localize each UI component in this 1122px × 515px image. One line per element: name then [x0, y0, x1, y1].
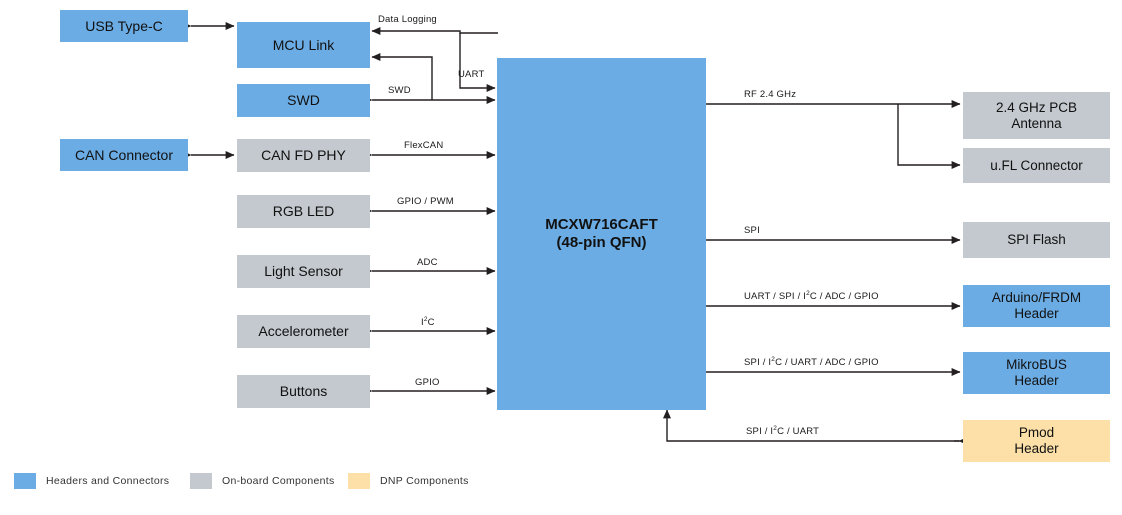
block-label: RGB LED — [273, 203, 334, 220]
legend-swatch-onboard — [190, 473, 212, 489]
legend-item-headers-connectors: Headers and Connectors — [14, 473, 169, 489]
block-mikrobus-header[interactable]: MikroBUS Header — [963, 352, 1110, 394]
block-label-line1: u.FL Connector — [990, 158, 1083, 174]
block-usb-type-c[interactable]: USB Type-C — [60, 10, 188, 42]
block-label: USB Type-C — [85, 18, 163, 35]
bus-label-pmod: SPI / I2C / UART — [746, 426, 819, 437]
bus-label-gpio: GPIO — [415, 377, 440, 388]
block-mcu-mcxw716caft[interactable]: MCXW716CAFT (48-pin QFN) — [497, 58, 706, 410]
block-label: CAN FD PHY — [261, 147, 346, 164]
pmod-bus-a: SPI / I — [746, 426, 773, 437]
legend-label-onboard: On-board Components — [222, 475, 335, 487]
wire-rf-ufl-branch — [898, 104, 960, 165]
block-label: Light Sensor — [264, 263, 343, 280]
legend-item-dnp-components: DNP Components — [348, 473, 469, 489]
block-light-sensor[interactable]: Light Sensor — [237, 255, 370, 288]
block-label-line2: Header — [1014, 373, 1058, 389]
legend-swatch-dnp — [348, 473, 370, 489]
arduino-bus-b: C / ADC / GPIO — [810, 291, 879, 302]
block-accelerometer[interactable]: Accelerometer — [237, 315, 370, 348]
block-label-line2: Header — [1014, 441, 1058, 457]
block-label: CAN Connector — [75, 147, 173, 164]
block-label: Buttons — [280, 383, 327, 400]
block-can-fd-phy[interactable]: CAN FD PHY — [237, 139, 370, 172]
block-label-line2: Header — [1014, 306, 1058, 322]
block-label: SWD — [287, 92, 320, 109]
block-label-line1: MikroBUS — [1006, 357, 1067, 373]
block-buttons[interactable]: Buttons — [237, 375, 370, 408]
block-label-line1: Pmod — [1019, 425, 1054, 441]
legend-label-headers: Headers and Connectors — [46, 475, 169, 487]
bus-label-uart: UART — [458, 69, 485, 80]
legend-label-dnp: DNP Components — [380, 475, 469, 487]
block-spi-flash[interactable]: SPI Flash — [963, 222, 1110, 258]
block-swd[interactable]: SWD — [237, 84, 370, 117]
block-diagram-canvas: USB Type-C CAN Connector MCU Link SWD CA… — [0, 0, 1122, 515]
bus-label-flexcan: FlexCAN — [404, 140, 443, 151]
block-label: Accelerometer — [258, 323, 348, 340]
block-pcb-antenna[interactable]: 2.4 GHz PCB Antenna — [963, 92, 1110, 139]
bus-label-swd: SWD — [388, 85, 411, 96]
mcu-part-number: MCXW716CAFT — [545, 216, 658, 234]
mikrobus-bus-a: SPI / I — [744, 357, 771, 368]
block-mcu-link[interactable]: MCU Link — [237, 22, 370, 68]
bus-label-rf: RF 2.4 GHz — [744, 89, 796, 100]
mcu-package: (48-pin QFN) — [557, 234, 647, 252]
legend-item-onboard-components: On-board Components — [190, 473, 335, 489]
pmod-bus-b: C / UART — [777, 426, 819, 437]
block-arduino-frdm-header[interactable]: Arduino/FRDM Header — [963, 285, 1110, 327]
block-label-line1: 2.4 GHz PCB — [996, 100, 1077, 116]
i2c-suffix: C — [428, 317, 435, 328]
block-can-connector[interactable]: CAN Connector — [60, 139, 188, 171]
bus-label-arduino: UART / SPI / I2C / ADC / GPIO — [744, 291, 879, 302]
bus-label-data-logging: Data Logging — [378, 14, 437, 25]
bus-label-gpio-pwm: GPIO / PWM — [397, 196, 454, 207]
arduino-bus-a: UART / SPI / I — [744, 291, 806, 302]
bus-label-adc: ADC — [417, 257, 438, 268]
legend-swatch-headers — [14, 473, 36, 489]
block-rgb-led[interactable]: RGB LED — [237, 195, 370, 228]
bus-label-spi: SPI — [744, 225, 760, 236]
block-label-line1: Arduino/FRDM — [992, 290, 1081, 306]
block-pmod-header[interactable]: Pmod Header — [963, 420, 1110, 462]
bus-label-mikrobus: SPI / I2C / UART / ADC / GPIO — [744, 357, 879, 368]
block-label: MCU Link — [273, 37, 334, 54]
mikrobus-bus-b: C / UART / ADC / GPIO — [775, 357, 879, 368]
bus-label-i2c: I2C — [421, 317, 435, 328]
block-ufl-connector[interactable]: u.FL Connector — [963, 148, 1110, 183]
block-label-line2: Antenna — [1011, 116, 1061, 132]
block-label-line1: SPI Flash — [1007, 232, 1066, 248]
wire-data-logging — [372, 31, 498, 33]
